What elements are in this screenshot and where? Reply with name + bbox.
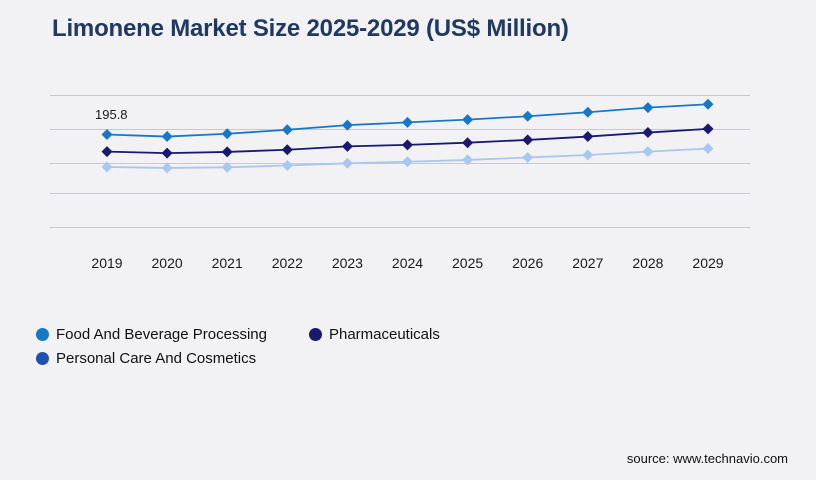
data-point-marker[interactable] xyxy=(222,146,233,157)
data-point-marker[interactable] xyxy=(342,141,353,152)
legend-row-2: Personal Care And Cosmetics xyxy=(36,346,636,370)
data-point-marker[interactable] xyxy=(102,146,113,157)
data-point-marker[interactable] xyxy=(282,124,293,135)
chart-title: Limonene Market Size 2025-2029 (US$ Mill… xyxy=(52,15,569,43)
legend-label-food-and-beverage-processing: Food And Beverage Processing xyxy=(56,326,267,343)
data-point-marker[interactable] xyxy=(703,99,714,110)
x-axis-tick-2024: 2024 xyxy=(392,255,423,271)
data-point-marker[interactable] xyxy=(703,123,714,134)
data-point-marker[interactable] xyxy=(282,160,293,171)
data-point-marker[interactable] xyxy=(402,156,413,167)
x-axis-tick-2019: 2019 xyxy=(91,255,122,271)
data-point-marker[interactable] xyxy=(522,152,533,163)
x-axis-tick-2023: 2023 xyxy=(332,255,363,271)
legend-marker-icon xyxy=(36,352,49,365)
data-point-marker[interactable] xyxy=(703,143,714,154)
data-point-marker[interactable] xyxy=(582,107,593,118)
data-point-marker[interactable] xyxy=(582,150,593,161)
x-axis-tick-2028: 2028 xyxy=(632,255,663,271)
x-axis-tick-2020: 2020 xyxy=(152,255,183,271)
chart-legend: Food And Beverage Processing Pharmaceuti… xyxy=(36,322,636,370)
data-point-marker[interactable] xyxy=(282,144,293,155)
data-label-195-8: 195.8 xyxy=(95,107,128,122)
chart-container: Limonene Market Size 2025-2029 (US$ Mill… xyxy=(0,0,816,480)
data-point-marker[interactable] xyxy=(462,137,473,148)
legend-row-1: Food And Beverage Processing Pharmaceuti… xyxy=(36,322,636,346)
x-axis-tick-2021: 2021 xyxy=(212,255,243,271)
legend-label-personal-care-and-cosmetics: Personal Care And Cosmetics xyxy=(56,350,256,367)
legend-marker-icon xyxy=(309,328,322,341)
x-axis-tick-2026: 2026 xyxy=(512,255,543,271)
legend-item-pharmaceuticals[interactable]: Pharmaceuticals xyxy=(309,322,440,346)
x-axis-tick-2025: 2025 xyxy=(452,255,483,271)
data-point-marker[interactable] xyxy=(162,162,173,173)
data-point-marker[interactable] xyxy=(162,148,173,159)
data-point-marker[interactable] xyxy=(162,131,173,142)
x-axis-tick-2027: 2027 xyxy=(572,255,603,271)
legend-item-food-and-beverage-processing[interactable]: Food And Beverage Processing xyxy=(36,322,267,346)
source-note: source: www.technavio.com xyxy=(627,451,788,466)
plot-area: 195.8 xyxy=(50,95,750,255)
data-point-marker[interactable] xyxy=(522,134,533,145)
x-axis: 2019202020212022202320242025202620272028… xyxy=(50,255,750,279)
data-point-marker[interactable] xyxy=(402,117,413,128)
data-point-marker[interactable] xyxy=(402,139,413,150)
data-point-marker[interactable] xyxy=(342,158,353,169)
x-axis-tick-2029: 2029 xyxy=(692,255,723,271)
data-point-marker[interactable] xyxy=(462,114,473,125)
data-point-marker[interactable] xyxy=(642,102,653,113)
legend-item-personal-care-and-cosmetics[interactable]: Personal Care And Cosmetics xyxy=(36,346,256,370)
legend-marker-icon xyxy=(36,328,49,341)
data-point-marker[interactable] xyxy=(522,111,533,122)
data-point-marker[interactable] xyxy=(642,127,653,138)
data-point-marker[interactable] xyxy=(582,131,593,142)
line-chart-svg xyxy=(50,95,750,255)
legend-label-pharmaceuticals: Pharmaceuticals xyxy=(329,326,440,343)
x-axis-tick-2022: 2022 xyxy=(272,255,303,271)
data-point-marker[interactable] xyxy=(102,129,113,140)
data-point-marker[interactable] xyxy=(642,146,653,157)
